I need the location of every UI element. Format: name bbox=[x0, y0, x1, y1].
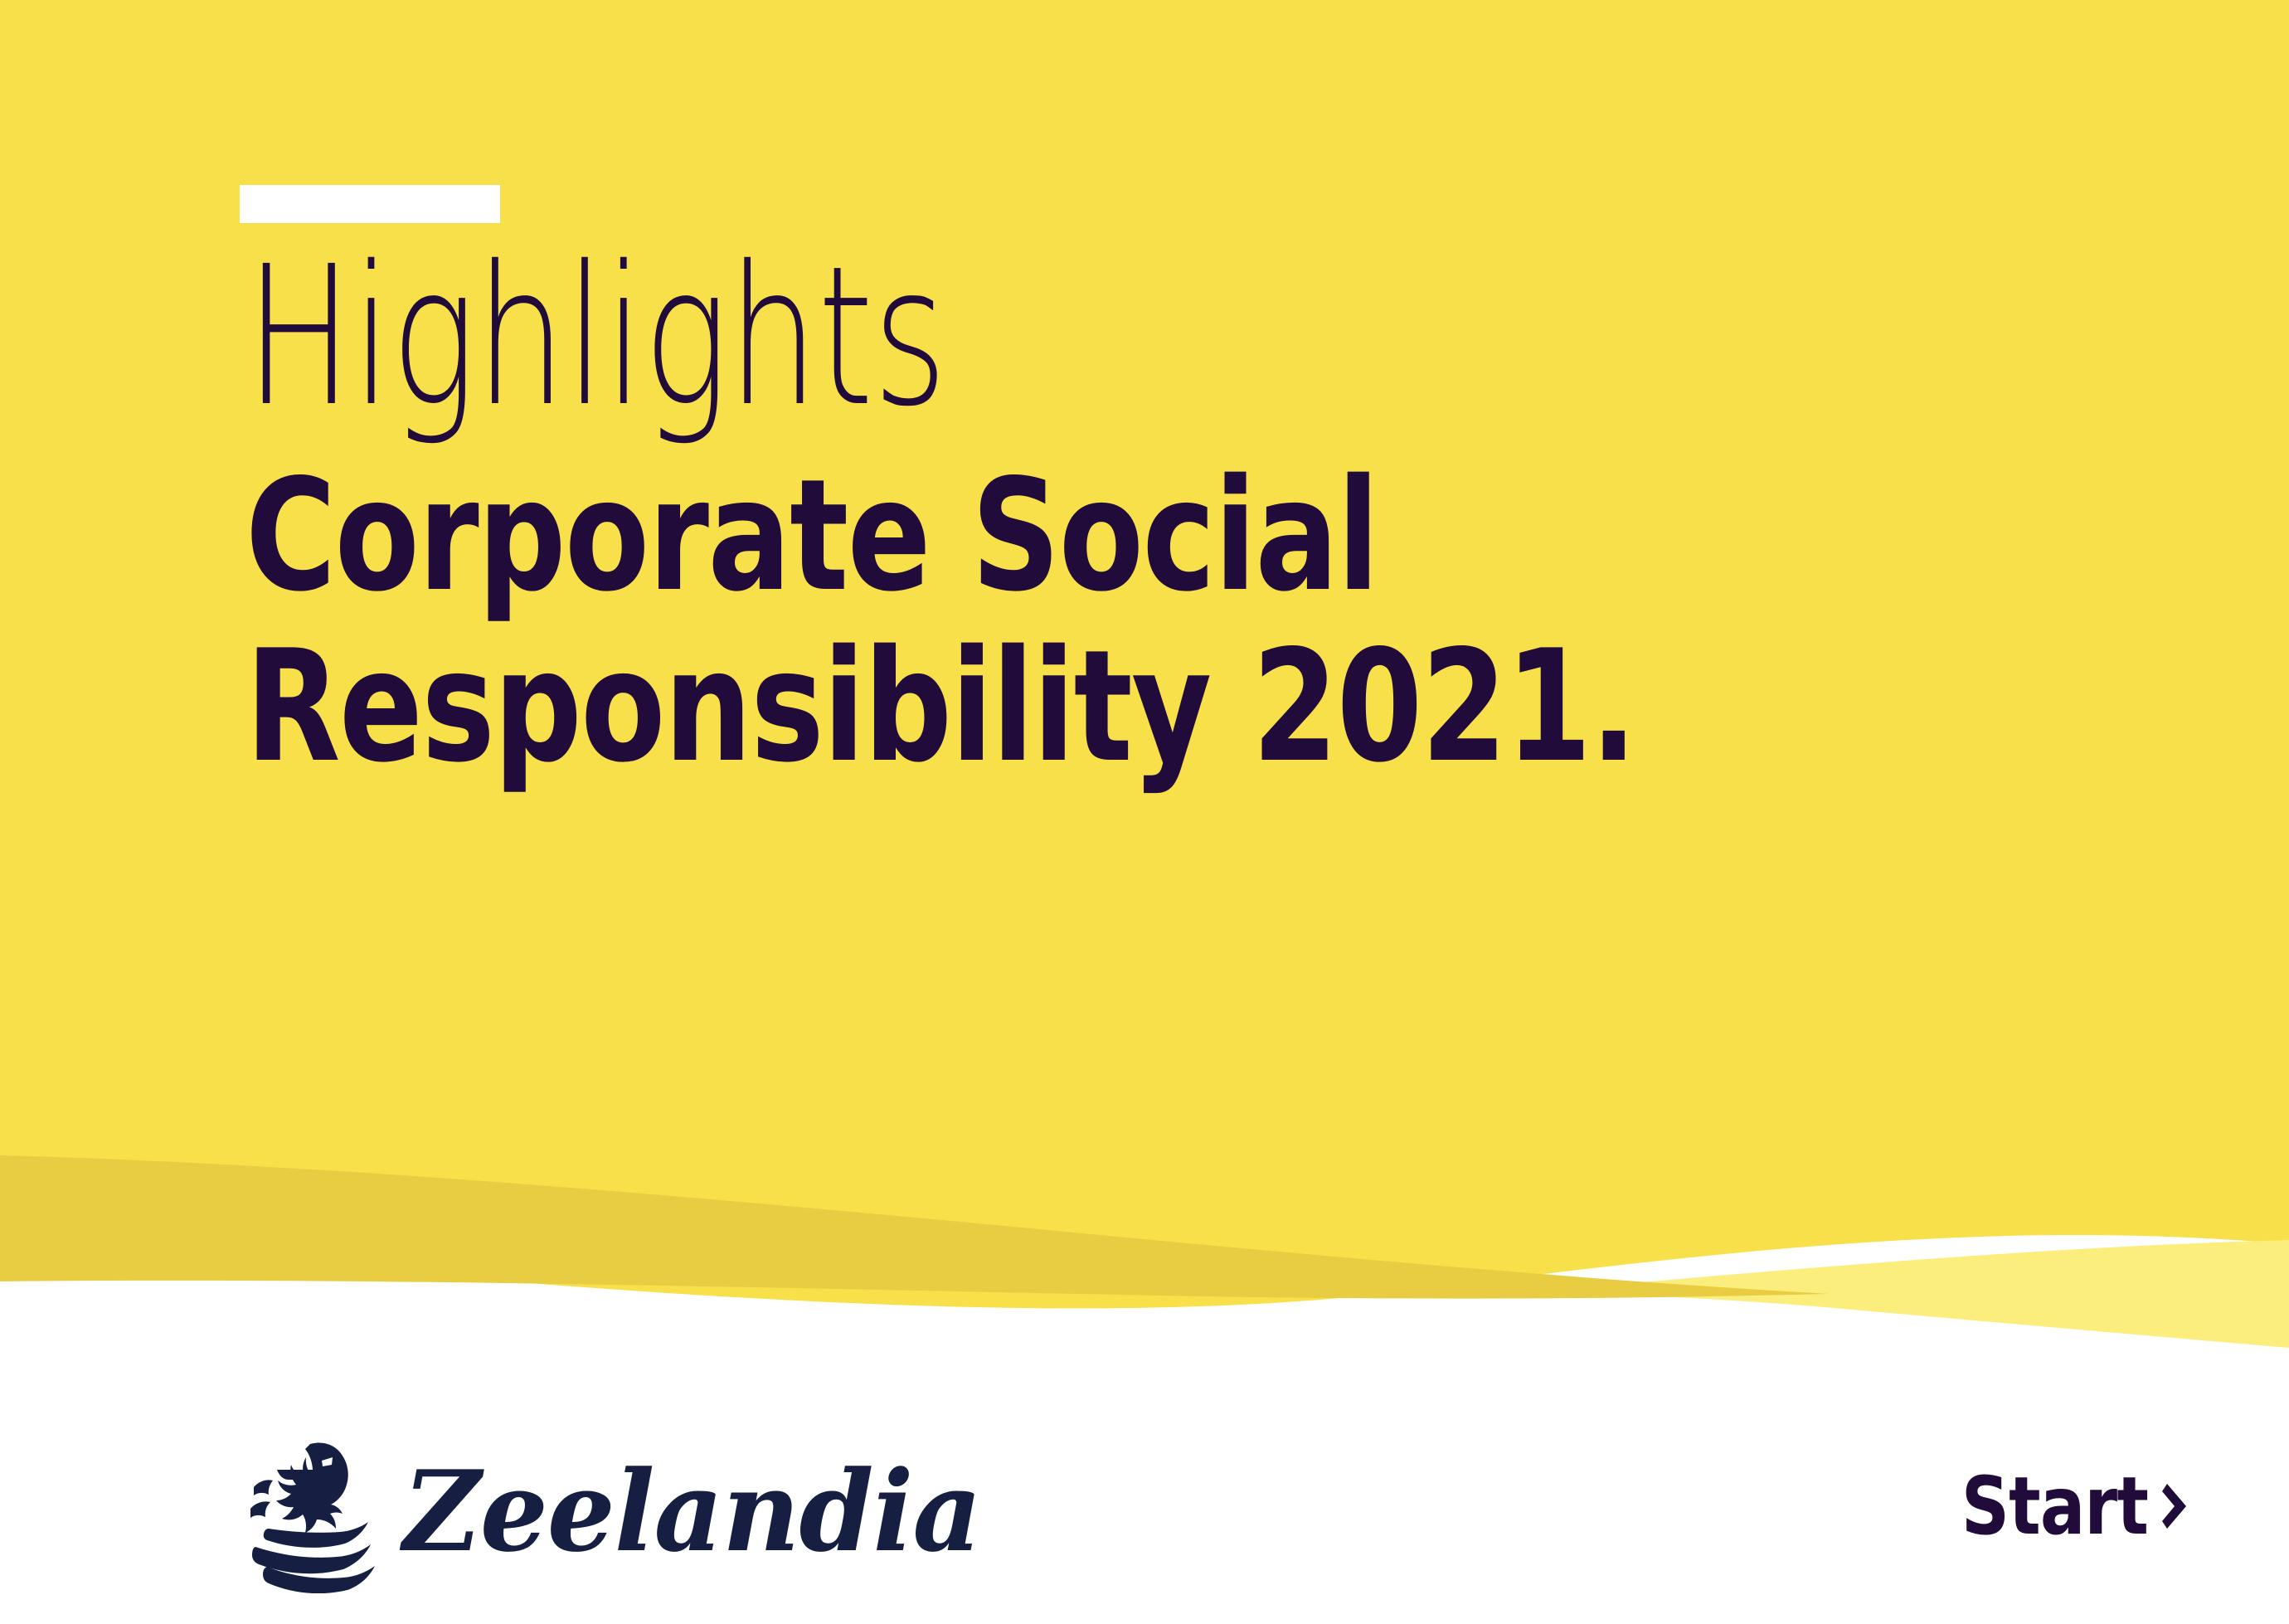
brand-lockup: Zeelandia bbox=[239, 1439, 1005, 1593]
cover-footer: Zeelandia Start bbox=[0, 1360, 2289, 1624]
cover-title-line-2: Responsibility 2021. bbox=[245, 625, 1639, 788]
headline-block: Highlights Corporate Social Responsibili… bbox=[245, 249, 1987, 788]
cover-kicker: Highlights bbox=[245, 249, 1534, 425]
report-cover-page: Highlights Corporate Social Responsibili… bbox=[0, 0, 2289, 1624]
headline-marker-bar bbox=[240, 185, 500, 223]
start-button-label: Start bbox=[1961, 1466, 2148, 1546]
start-button[interactable]: Start bbox=[1926, 1466, 2191, 1546]
chevron-right-icon bbox=[2161, 1481, 2191, 1531]
hero-dark-band-shape bbox=[0, 1155, 1829, 1299]
brand-wordmark: Zeelandia bbox=[403, 1456, 981, 1567]
hero-light-sliver-shape bbox=[1526, 1240, 2289, 1348]
zeelandia-lion-wave-emblem-icon bbox=[239, 1439, 385, 1593]
cover-title-line-1: Corporate Social bbox=[245, 454, 1639, 617]
